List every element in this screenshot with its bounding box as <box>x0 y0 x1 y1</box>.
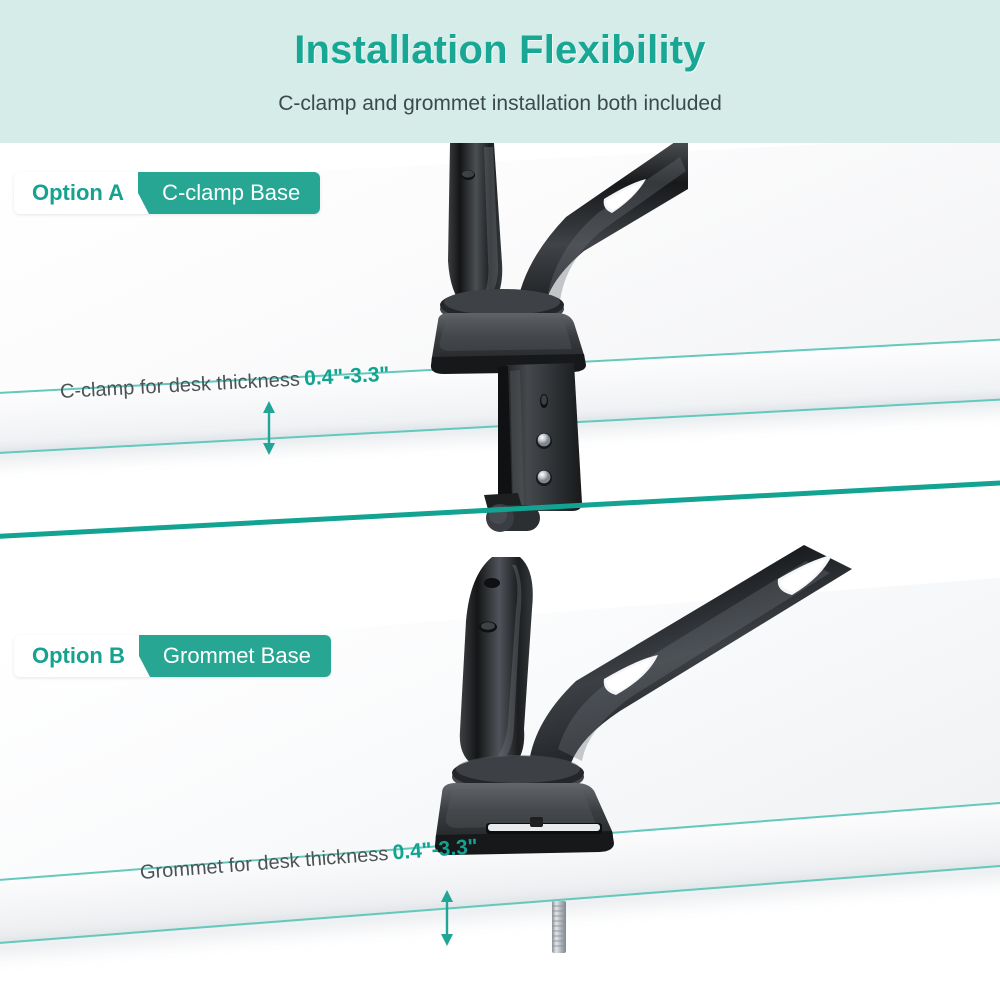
page-subtitle: C-clamp and grommet installation both in… <box>0 92 1000 116</box>
annotation-value-a: 0.4"-3.3" <box>304 363 390 390</box>
arm-post-left <box>448 143 502 307</box>
option-b-section: Grommet for desk thickness 0.4"-3.3" Opt… <box>0 535 1000 983</box>
arm-post-left-b <box>460 557 533 767</box>
header-banner: Installation Flexibility C-clamp and gro… <box>0 0 1000 143</box>
thickness-arrow-a <box>259 401 279 455</box>
infographic-canvas: Installation Flexibility C-clamp and gro… <box>0 0 1000 983</box>
arm-gas-spring-right-b <box>528 545 852 775</box>
c-clamp-mount-illustration <box>398 143 688 535</box>
badge-option-a-label: Option A <box>14 172 138 214</box>
page-title: Installation Flexibility <box>0 28 1000 73</box>
thickness-arrow-b <box>437 890 457 946</box>
badge-option-b-base-label: Grommet Base <box>139 635 331 677</box>
badge-option-b-label: Option B <box>14 635 139 677</box>
badge-option-b[interactable]: Option B Grommet Base <box>14 635 331 677</box>
arm-gas-spring-right <box>516 143 688 313</box>
badge-option-a-base-label: C-clamp Base <box>138 172 320 214</box>
badge-option-a[interactable]: Option A C-clamp Base <box>14 172 320 214</box>
grommet-mount-illustration <box>400 535 880 955</box>
clamp-plate <box>498 363 582 511</box>
threaded-bolt <box>552 901 566 953</box>
option-a-section: C-clamp for desk thickness 0.4"-3.3" Opt… <box>0 143 1000 535</box>
